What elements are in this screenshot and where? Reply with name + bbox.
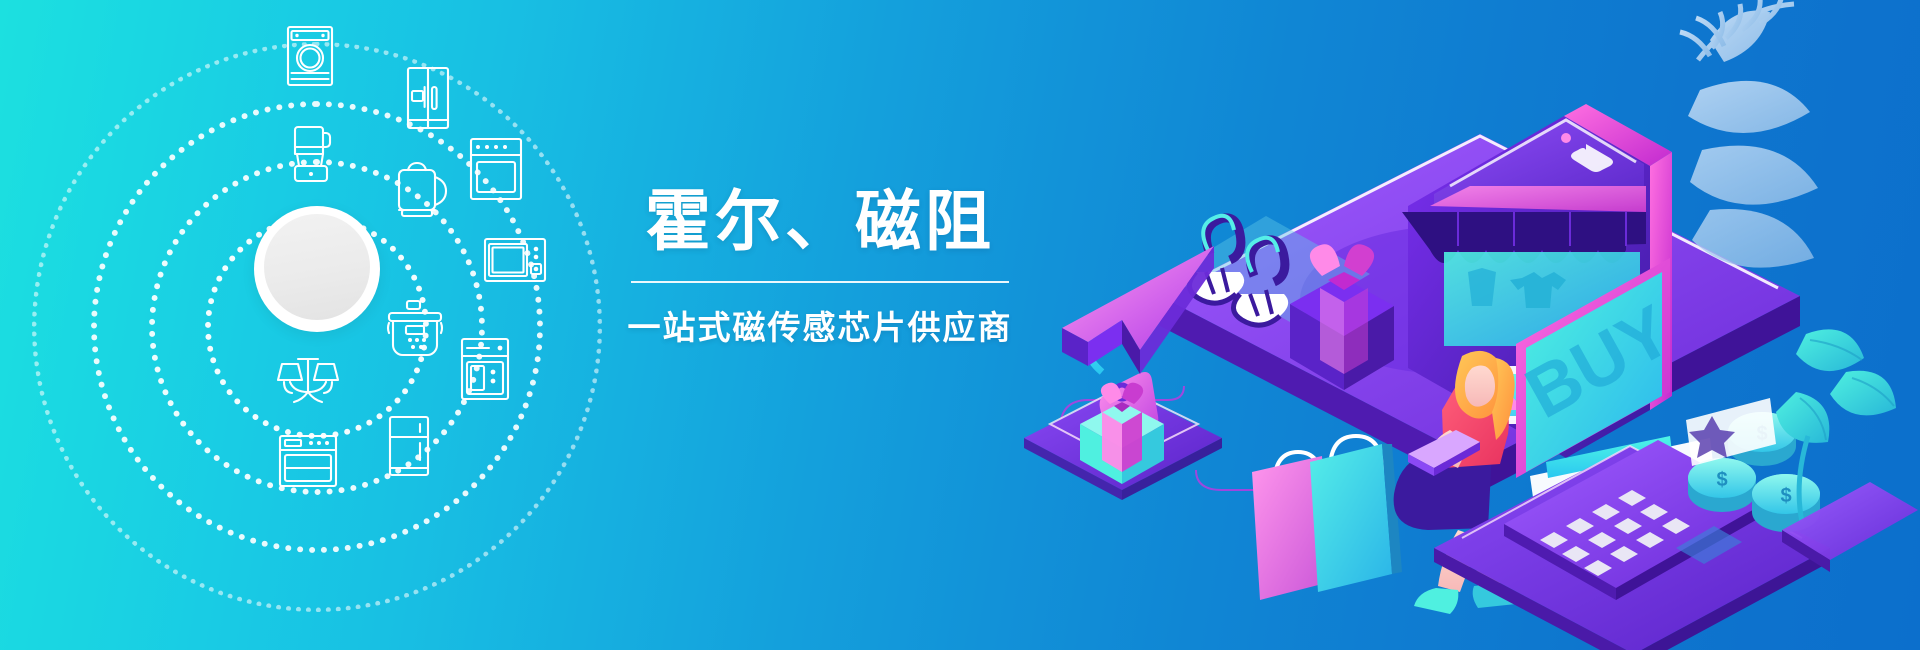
svg-text:$: $ (1716, 469, 1727, 491)
induction-cooktop-icon (279, 435, 337, 487)
shopping-bags (1252, 436, 1402, 600)
blender-icon (290, 124, 332, 186)
title-divider (631, 281, 1009, 283)
washing-machine-icon (287, 26, 333, 86)
tropical-leaves-back (1680, 0, 1818, 268)
electric-kettle-icon (394, 158, 448, 220)
gas-range-icon (470, 138, 522, 200)
oven-icon (461, 338, 509, 400)
svg-text:$: $ (1780, 485, 1791, 507)
orbit-center-disc (254, 206, 380, 332)
page-subtitle: 一站式磁传感芯片供应商 (610, 301, 1030, 349)
tropical-leaves-front (1776, 329, 1918, 572)
hero-banner: 霍尔、磁阻 一站式磁传感芯片供应商 (0, 0, 1920, 650)
upright-refrigerator-icon (389, 416, 429, 476)
chandelier-icon (272, 356, 344, 410)
page-title: 霍尔、磁阻 (610, 185, 1030, 259)
side-by-side-refrigerator-icon (407, 67, 449, 129)
microwave-oven-icon (484, 238, 546, 282)
isometric-ecommerce-illustration: BUY $ $ (1010, 0, 1920, 650)
banner-copy: 霍尔、磁阻 一站式磁传感芯片供应商 (610, 185, 1030, 349)
rice-cooker-icon (386, 299, 444, 361)
